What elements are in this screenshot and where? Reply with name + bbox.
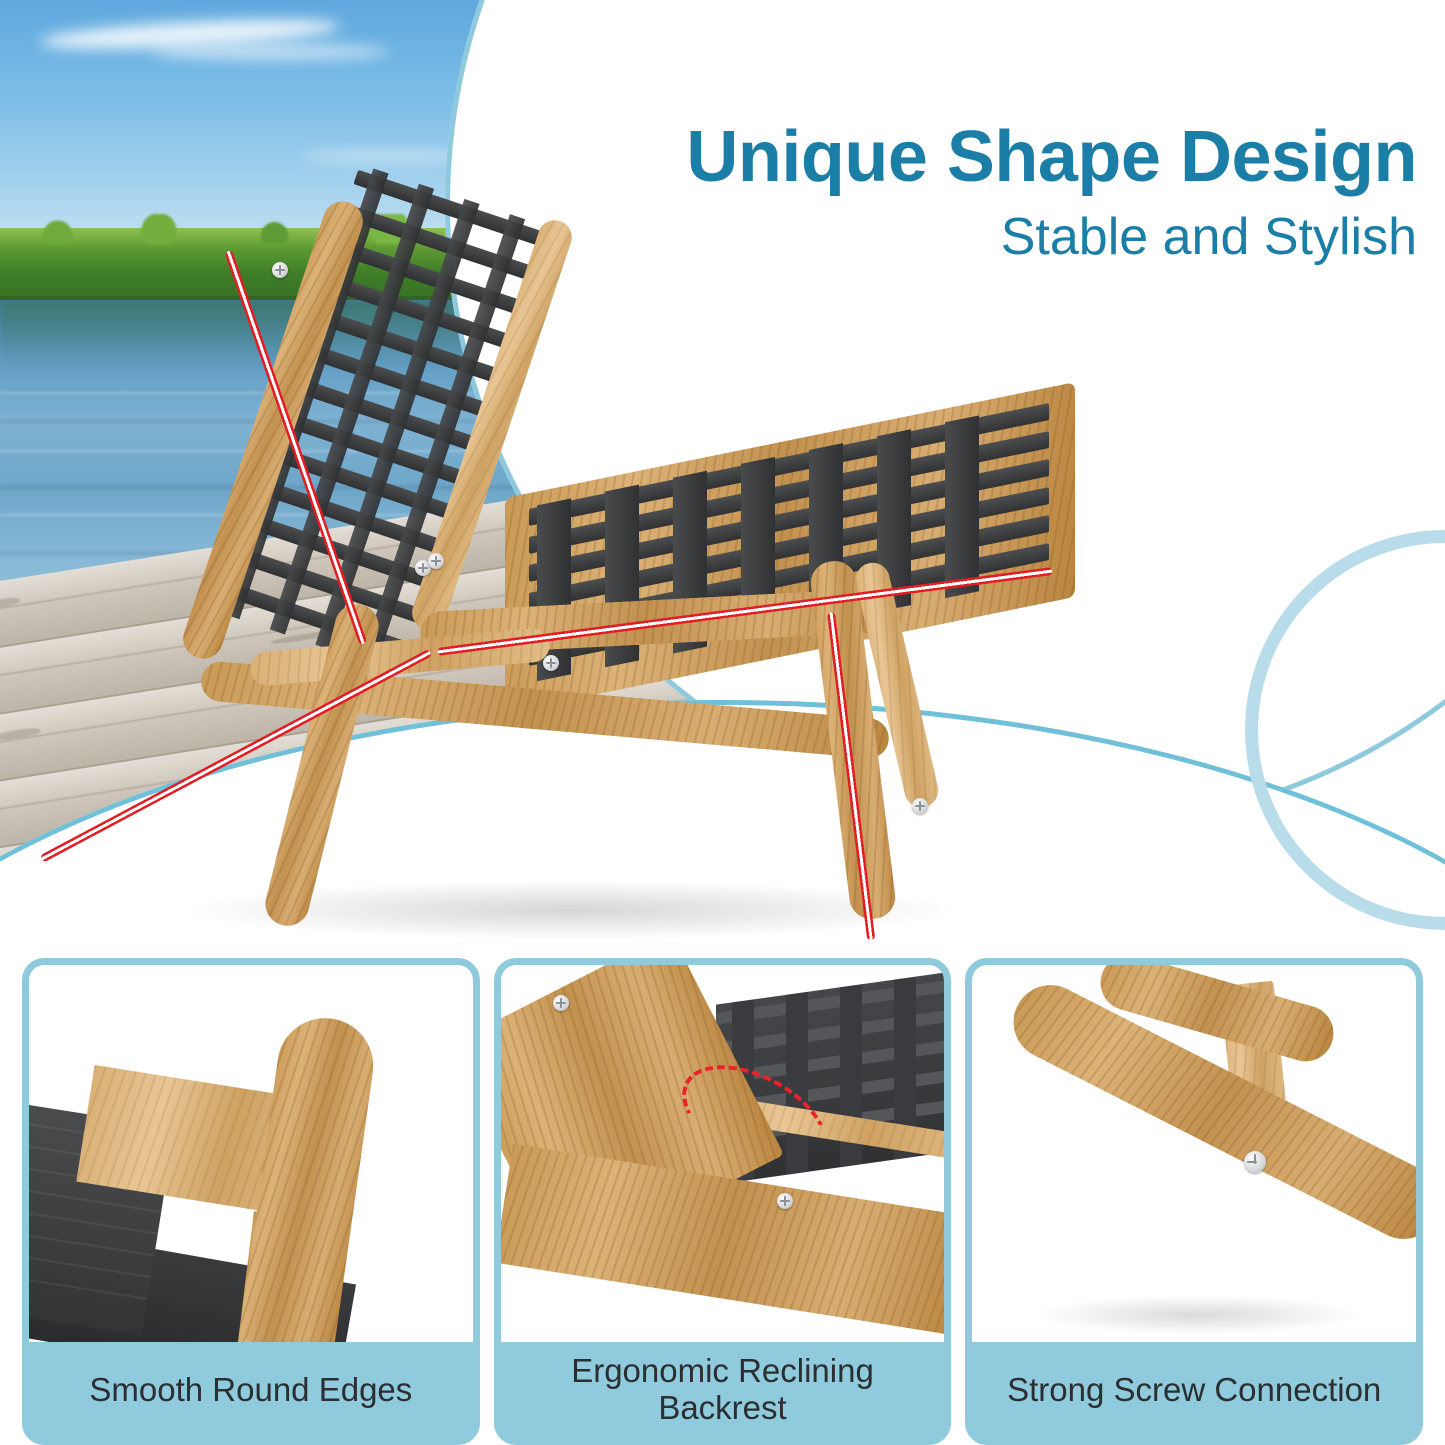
headline-block: Unique Shape Design Stable and Stylish: [686, 120, 1417, 271]
card-image-smooth-round-edges: [29, 965, 473, 1342]
page-subtitle: Stable and Stylish: [686, 204, 1417, 272]
card-caption: Ergonomic Reclining Backrest: [501, 1342, 945, 1438]
product-feature-graphic: Unique Shape Design Stable and Stylish S…: [0, 0, 1445, 1445]
screw-icon: [543, 655, 559, 671]
screw-icon: [777, 1193, 793, 1209]
hero-section: Unique Shape Design Stable and Stylish: [0, 0, 1445, 960]
drop-shadow: [1032, 1295, 1362, 1335]
page-title: Unique Shape Design: [686, 120, 1417, 196]
card-caption: Strong Screw Connection: [972, 1342, 1416, 1438]
feature-cards: Smooth Round Edges Ergonomic Re: [0, 958, 1445, 1445]
feature-card-ergonomic-reclining-backrest[interactable]: Ergonomic Reclining Backrest: [494, 958, 952, 1445]
feature-card-strong-screw-connection[interactable]: Strong Screw Connection: [965, 958, 1423, 1445]
feature-card-smooth-round-edges[interactable]: Smooth Round Edges: [22, 958, 480, 1445]
screw-icon: [553, 995, 569, 1011]
screw-icon: [428, 553, 444, 569]
screw-icon: [272, 262, 288, 278]
screw-icon: [912, 798, 928, 814]
card-image-ergonomic-reclining-backrest: [501, 965, 945, 1342]
card-image-strong-screw-connection: [972, 965, 1416, 1342]
card-caption: Smooth Round Edges: [29, 1342, 473, 1438]
